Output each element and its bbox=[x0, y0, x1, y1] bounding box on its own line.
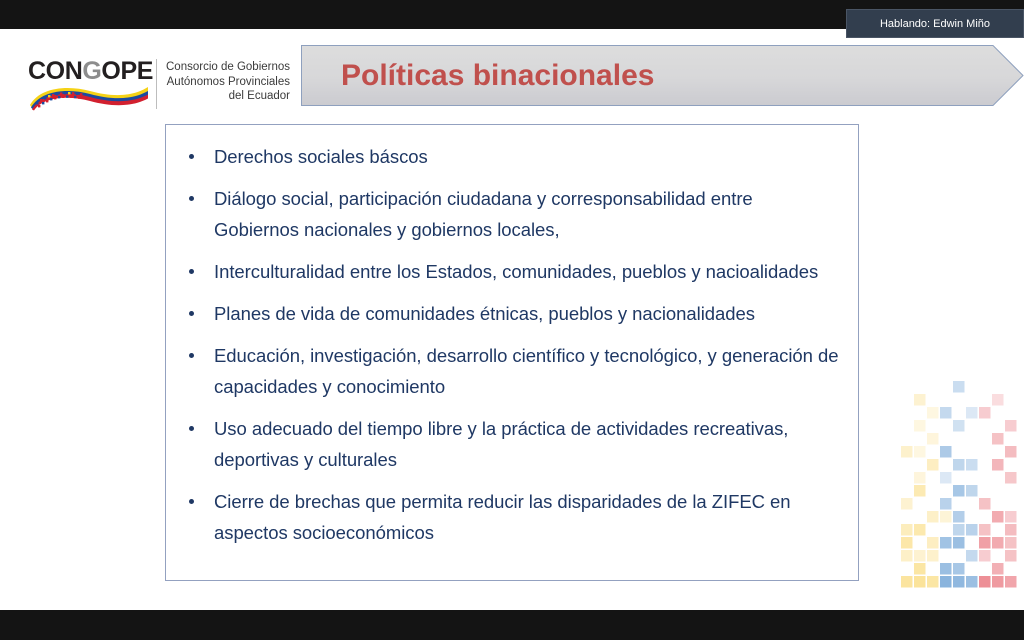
mosaic-cell bbox=[940, 511, 952, 523]
mosaic-cell bbox=[953, 537, 965, 549]
mosaic-cell bbox=[1005, 537, 1017, 549]
bullet-item-text: Cierre de brechas que permita reducir la… bbox=[214, 491, 791, 543]
mosaic-cell bbox=[1005, 420, 1017, 432]
active-speaker-badge: Hablando: Edwin Miño bbox=[846, 9, 1024, 38]
mosaic-cell bbox=[901, 550, 913, 562]
bullet-dot-icon bbox=[189, 154, 194, 159]
mosaic-cell bbox=[966, 550, 978, 562]
letterbox-bottom bbox=[0, 610, 1024, 640]
logo-wordmark-part2: OPE bbox=[101, 57, 153, 85]
bullet-item: Planes de vida de comunidades étnicas, p… bbox=[178, 298, 840, 329]
mosaic-cell bbox=[901, 498, 913, 510]
bullet-dot-icon bbox=[189, 499, 194, 504]
mosaic-cell bbox=[940, 407, 952, 419]
bullet-item-text: Derechos sociales báscos bbox=[214, 146, 428, 167]
mosaic-cell bbox=[966, 407, 978, 419]
bullet-item-text: Uso adecuado del tiempo libre y la práct… bbox=[214, 418, 788, 470]
bullet-dot-icon bbox=[189, 426, 194, 431]
mosaic-cell bbox=[940, 576, 952, 588]
ecuador-wave-icon bbox=[28, 83, 150, 111]
mosaic-cell bbox=[914, 446, 926, 458]
mosaic-cell bbox=[992, 459, 1004, 471]
mosaic-cell bbox=[914, 420, 926, 432]
mosaic-cell bbox=[901, 446, 913, 458]
logo-wordmark: CONGOPE bbox=[28, 57, 153, 86]
bullet-list: Derechos sociales báscosDiálogo social, … bbox=[178, 141, 840, 548]
mosaic-cell bbox=[1005, 511, 1017, 523]
mosaic-cell bbox=[966, 459, 978, 471]
mosaic-cell bbox=[914, 524, 926, 536]
mosaic-cell bbox=[953, 576, 965, 588]
mosaic-cell bbox=[1005, 472, 1017, 484]
mosaic-cell bbox=[927, 511, 939, 523]
mosaic-cell bbox=[940, 498, 952, 510]
mosaic-cell bbox=[953, 459, 965, 471]
mosaic-cell bbox=[914, 394, 926, 406]
mosaic-cell bbox=[1005, 446, 1017, 458]
bullet-item: Interculturalidad entre los Estados, com… bbox=[178, 256, 840, 287]
mosaic-cell bbox=[927, 550, 939, 562]
bullet-dot-icon bbox=[189, 269, 194, 274]
bullet-content-box: Derechos sociales báscosDiálogo social, … bbox=[165, 124, 859, 581]
bullet-item: Diálogo social, participación ciudadana … bbox=[178, 183, 840, 245]
mosaic-cell bbox=[966, 524, 978, 536]
bullet-item: Uso adecuado del tiempo libre y la práct… bbox=[178, 413, 840, 475]
mosaic-cell bbox=[914, 576, 926, 588]
bullet-item-text: Educación, investigación, desarrollo cie… bbox=[214, 345, 838, 397]
bullet-dot-icon bbox=[189, 311, 194, 316]
bullet-item: Derechos sociales báscos bbox=[178, 141, 840, 172]
presentation-slide: CONGOPE bbox=[0, 29, 1024, 610]
mosaic-cell bbox=[953, 524, 965, 536]
mosaic-cell bbox=[914, 485, 926, 497]
logo-wordmark-part1: CON bbox=[28, 57, 82, 85]
logo-tagline: Consorcio de Gobiernos Autónomos Provinc… bbox=[166, 55, 290, 104]
mosaic-cell bbox=[992, 537, 1004, 549]
mosaic-cell bbox=[953, 485, 965, 497]
corner-mosaic-decoration bbox=[900, 380, 1024, 610]
mosaic-cell bbox=[979, 407, 991, 419]
mosaic-cell bbox=[992, 563, 1004, 575]
mosaic-cell bbox=[901, 576, 913, 588]
mosaic-cell bbox=[1005, 524, 1017, 536]
mosaic-cell bbox=[927, 537, 939, 549]
mosaic-cell bbox=[901, 537, 913, 549]
bullet-item-text: Planes de vida de comunidades étnicas, p… bbox=[214, 303, 755, 324]
mosaic-cell bbox=[1005, 550, 1017, 562]
mosaic-cell bbox=[901, 524, 913, 536]
mosaic-cell bbox=[979, 524, 991, 536]
mosaic-cell bbox=[914, 550, 926, 562]
bullet-dot-icon bbox=[189, 196, 194, 201]
mosaic-cell bbox=[979, 576, 991, 588]
mosaic-cell bbox=[992, 576, 1004, 588]
mosaic-cell bbox=[940, 446, 952, 458]
mosaic-cell bbox=[927, 433, 939, 445]
slide-title-banner: Políticas binacionales bbox=[301, 45, 1024, 106]
screen: CONGOPE bbox=[0, 0, 1024, 640]
bullet-item-text: Diálogo social, participación ciudadana … bbox=[214, 188, 753, 240]
mosaic-cell bbox=[940, 563, 952, 575]
mosaic-cell bbox=[953, 563, 965, 575]
mosaic-cell bbox=[940, 472, 952, 484]
logo-divider bbox=[156, 59, 157, 109]
bullet-item: Cierre de brechas que permita reducir la… bbox=[178, 486, 840, 548]
mosaic-cell bbox=[927, 407, 939, 419]
mosaic-cell bbox=[979, 537, 991, 549]
mosaic-cell bbox=[953, 381, 965, 393]
mosaic-cell bbox=[1005, 576, 1017, 588]
active-speaker-label: Hablando: Edwin Miño bbox=[880, 18, 990, 30]
mosaic-cell bbox=[966, 576, 978, 588]
bullet-item-text: Interculturalidad entre los Estados, com… bbox=[214, 261, 818, 282]
bullet-dot-icon bbox=[189, 353, 194, 358]
mosaic-cell bbox=[914, 563, 926, 575]
logo-tagline-line1: Consorcio de Gobiernos bbox=[166, 60, 290, 75]
mosaic-cell bbox=[953, 420, 965, 432]
mosaic-cell bbox=[927, 576, 939, 588]
mosaic-cell bbox=[927, 459, 939, 471]
mosaic-cell bbox=[979, 550, 991, 562]
logo-mark: CONGOPE bbox=[28, 55, 150, 113]
mosaic-cell bbox=[992, 433, 1004, 445]
mosaic-cell bbox=[979, 498, 991, 510]
logo-wordmark-g: G bbox=[82, 57, 101, 85]
mosaic-cell bbox=[992, 511, 1004, 523]
congope-logo: CONGOPE bbox=[28, 55, 290, 113]
logo-tagline-line3: del Ecuador bbox=[166, 89, 290, 104]
mosaic-cell bbox=[992, 394, 1004, 406]
mosaic-cell bbox=[966, 485, 978, 497]
mosaic-cell bbox=[940, 537, 952, 549]
mosaic-cell bbox=[914, 472, 926, 484]
bullet-item: Educación, investigación, desarrollo cie… bbox=[178, 340, 840, 402]
mosaic-cell bbox=[953, 511, 965, 523]
logo-tagline-line2: Autónomos Provinciales bbox=[166, 75, 290, 90]
page-title: Políticas binacionales bbox=[341, 45, 654, 106]
